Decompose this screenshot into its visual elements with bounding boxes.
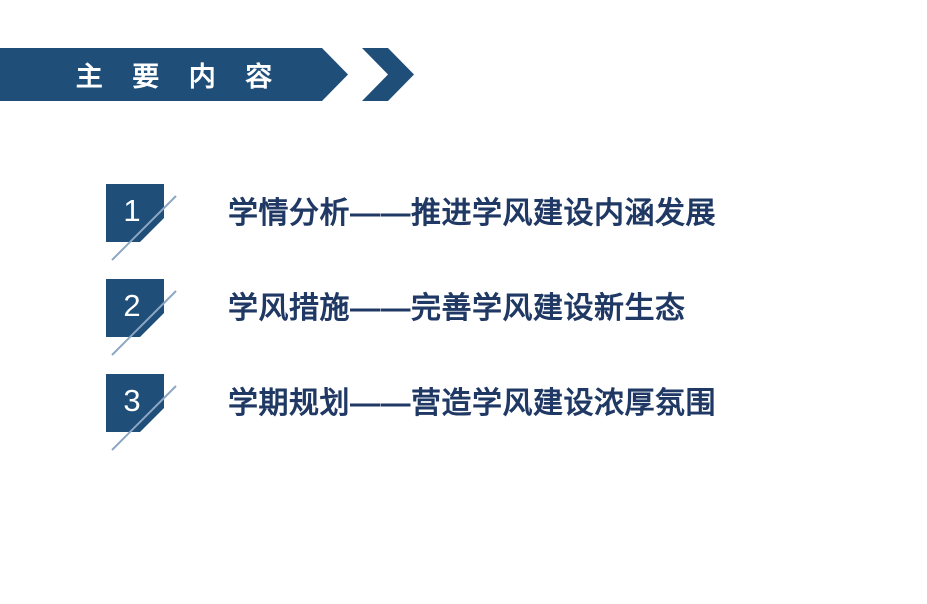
slide-canvas: 主 要 内 容 1 学情分析——推进学风建设内涵发展 2 学风措施——完善学风建 (0, 0, 927, 604)
list-item-label: 学情分析——推进学风建设内涵发展 (228, 184, 716, 236)
number-badge: 1 (100, 178, 210, 268)
number-badge: 2 (100, 273, 210, 363)
badge-number-label: 3 (106, 374, 158, 426)
list-item-label: 学期规划——营造学风建设浓厚氛围 (228, 374, 716, 426)
list-item[interactable]: 3 学期规划——营造学风建设浓厚氛围 (100, 368, 900, 458)
badge-number-label: 1 (106, 184, 158, 236)
list-item[interactable]: 1 学情分析——推进学风建设内涵发展 (100, 178, 900, 268)
badge-number-label: 2 (106, 279, 158, 331)
list-item[interactable]: 2 学风措施——完善学风建设新生态 (100, 273, 900, 363)
number-badge: 3 (100, 368, 210, 458)
list-item-label: 学风措施——完善学风建设新生态 (228, 279, 686, 331)
content-list: 1 学情分析——推进学风建设内涵发展 2 学风措施——完善学风建设新生态 3 (0, 0, 927, 604)
